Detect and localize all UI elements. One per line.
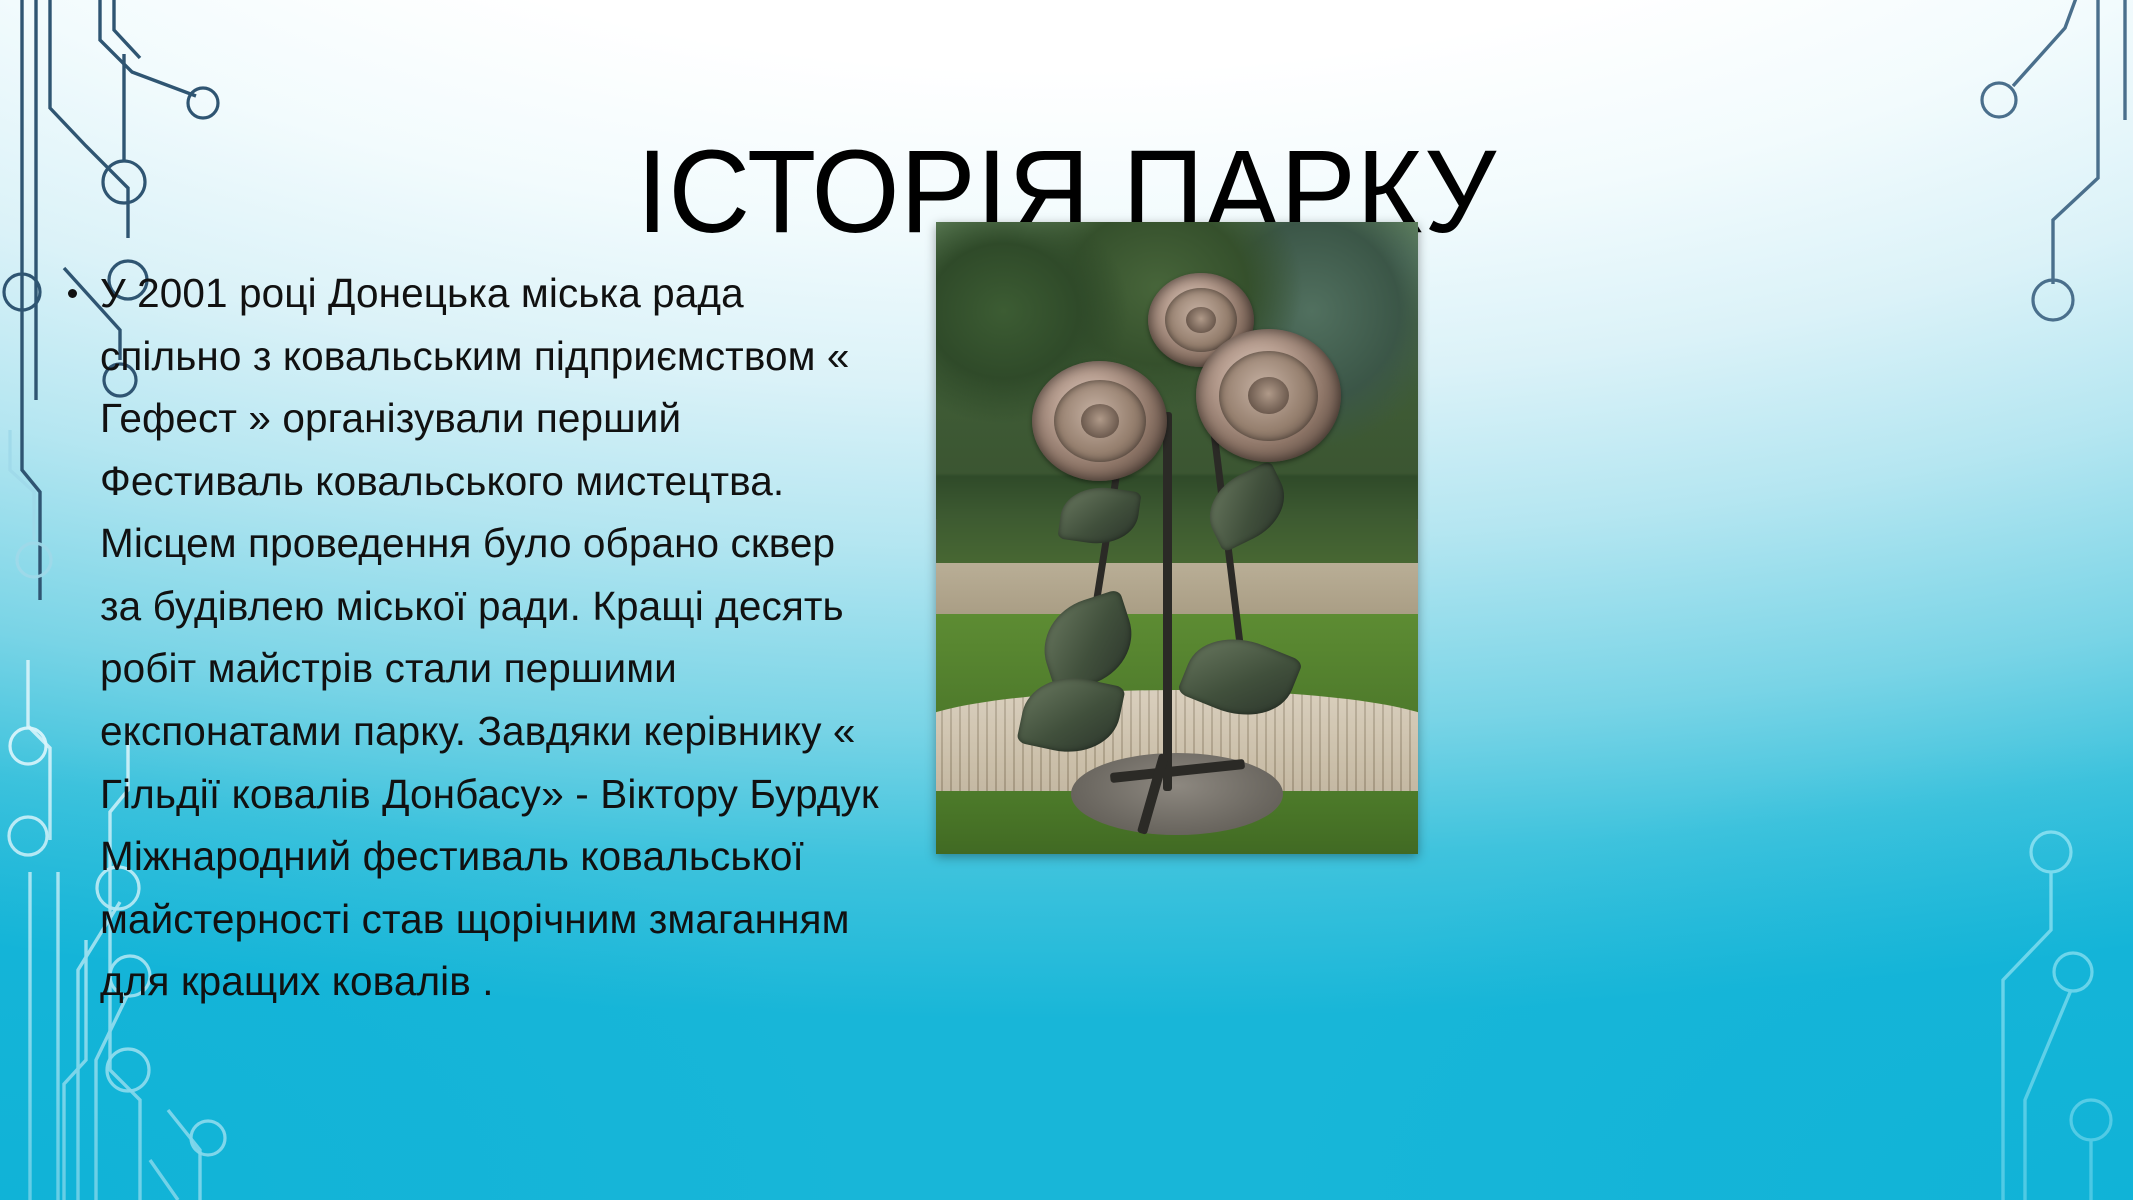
circuit-decoration-bottom-right <box>1893 780 2133 1200</box>
photo-content <box>936 222 1418 854</box>
sculpture-photo <box>936 222 1418 854</box>
sculpture-rose-right <box>1196 329 1341 462</box>
sculpture-main-stem <box>1163 412 1172 791</box>
bullet-list: У 2001 році Донецька міська рада спільно… <box>56 262 884 1013</box>
bullet-item: У 2001 році Донецька міська рада спільно… <box>56 262 884 1013</box>
slide-canvas: ІСТОРІЯ ПАРКУ У 2001 році Донецька міськ… <box>0 0 2133 1200</box>
photo-hedge <box>936 475 1418 576</box>
photo-far-path <box>936 563 1418 620</box>
slide-body: У 2001 році Донецька міська рада спільно… <box>56 262 884 1013</box>
sculpture-rose-left <box>1032 361 1167 481</box>
